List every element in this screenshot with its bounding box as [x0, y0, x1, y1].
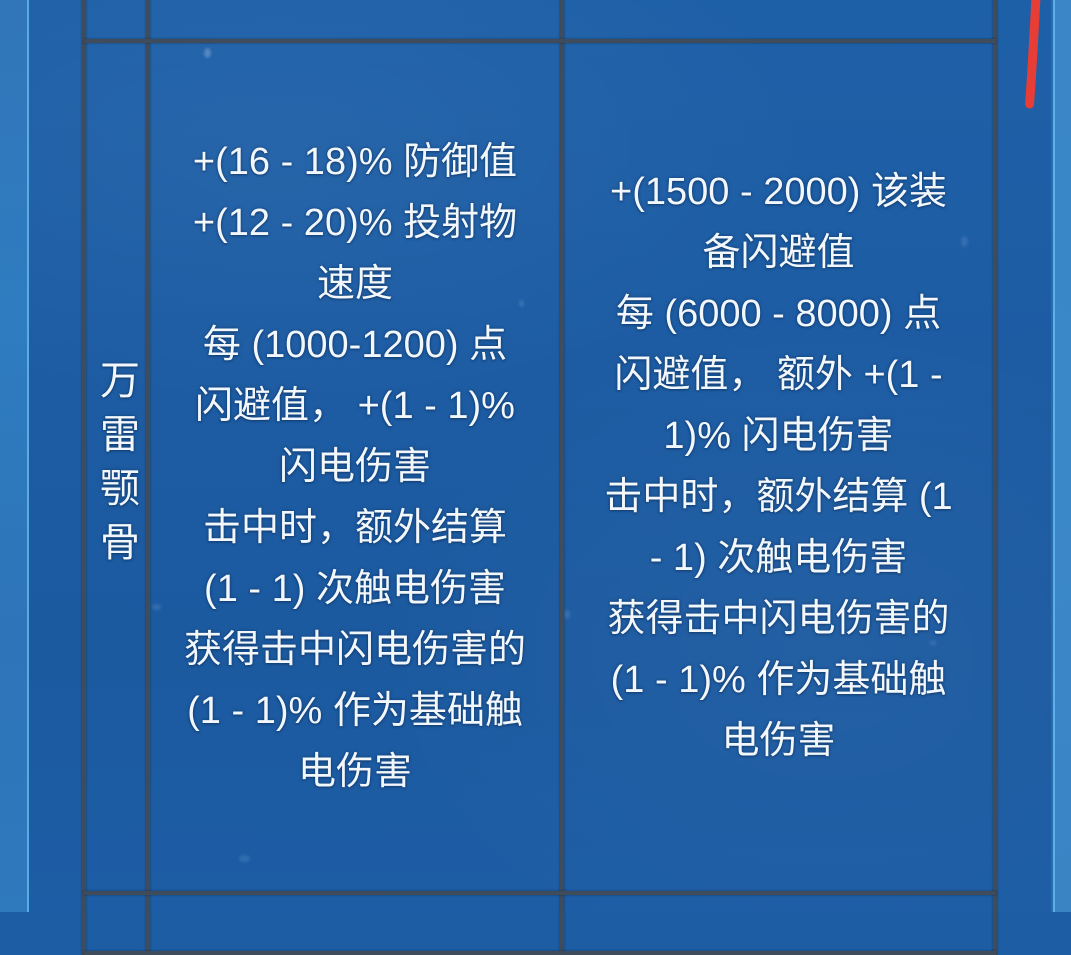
- affix-line: 每 (6000 - 8000) 点: [570, 284, 987, 345]
- grid-line-horizontal-bottom: [84, 951, 996, 955]
- affix-line: (1 - 1)% 作为基础触: [570, 650, 987, 711]
- table-cell-affix-right-row-2: [562, 895, 995, 951]
- affix-line: +(1500 - 2000) 该装: [570, 162, 987, 223]
- item-name-label: 万雷颚骨: [96, 359, 136, 575]
- affix-line: 备闪避值: [570, 223, 987, 284]
- affix-line: 闪电伤害: [156, 437, 554, 498]
- table-cell-affix-right-row-1: +(1500 - 2000) 该装 备闪避值 每 (6000 - 8000) 点…: [562, 43, 995, 891]
- screen-root: 万雷颚骨 +(16 - 18)% 防御值 +(12 - 20)% 投射物 速度 …: [0, 0, 1071, 912]
- affix-line: 闪避值， 额外 +(1 -: [570, 345, 987, 406]
- table-cell-affix-middle-row-1: +(16 - 18)% 防御值 +(12 - 20)% 投射物 速度 每 (10…: [148, 43, 562, 891]
- table-cell-name-row-2: [84, 895, 148, 951]
- table-cell-affix-middle-row-2: [148, 895, 562, 951]
- affix-line: 电伤害: [570, 711, 987, 772]
- affix-line: 击中时，额外结算: [156, 498, 554, 559]
- affix-line: 电伤害: [156, 742, 554, 803]
- affix-line: 获得击中闪电伤害的: [156, 620, 554, 681]
- table-cell-affix-middle-row-0: [148, 0, 562, 39]
- right-edge-band: [1053, 0, 1071, 912]
- affix-table: 万雷颚骨 +(16 - 18)% 防御值 +(12 - 20)% 投射物 速度 …: [84, 0, 996, 955]
- affix-line: 每 (1000-1200) 点: [156, 315, 554, 376]
- affix-line: (1 - 1)% 作为基础触: [156, 681, 554, 742]
- affix-line: 1)% 闪电伤害: [570, 406, 987, 467]
- left-edge-band: [0, 0, 29, 912]
- affix-line: +(12 - 20)% 投射物: [156, 193, 554, 254]
- affix-line: 闪避值， +(1 - 1)%: [156, 376, 554, 437]
- affix-line: - 1) 次触电伤害: [570, 528, 987, 589]
- affix-line: 获得击中闪电伤害的: [570, 589, 987, 650]
- affix-line: 速度: [156, 254, 554, 315]
- table-cell-name-row-0: [84, 0, 148, 39]
- affix-line: +(16 - 18)% 防御值: [156, 132, 554, 193]
- affix-line: 击中时，额外结算 (1: [570, 467, 987, 528]
- affix-line: (1 - 1) 次触电伤害: [156, 559, 554, 620]
- table-cell-name-row-1: 万雷颚骨: [84, 43, 148, 891]
- table-cell-affix-right-row-0: [562, 0, 995, 39]
